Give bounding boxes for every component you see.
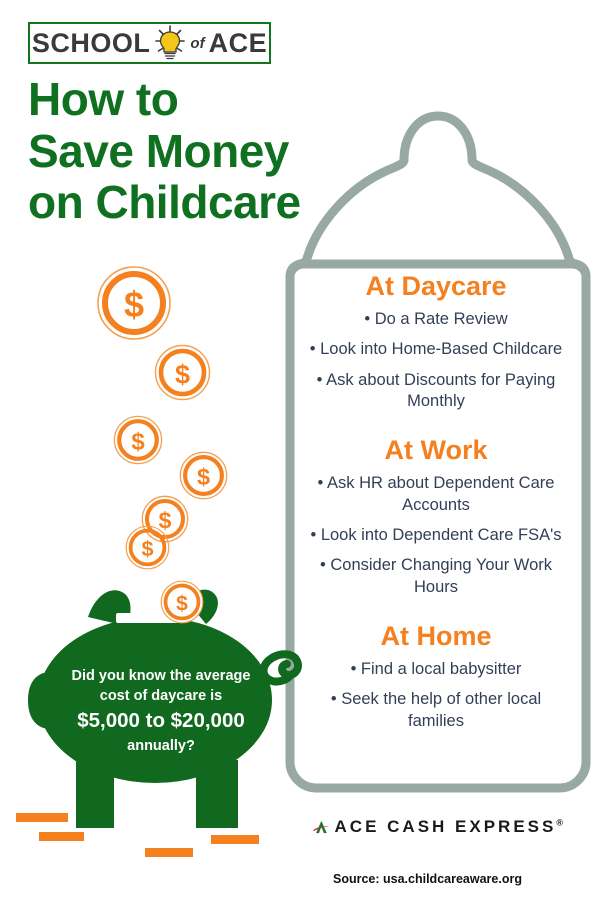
piggy-text-line-4: annually? [47, 736, 275, 756]
tips-heading-work: At Work [305, 436, 567, 466]
piggy-leg-front [76, 760, 114, 828]
tips-heading-daycare: At Daycare [305, 272, 567, 302]
svg-text:$: $ [131, 429, 145, 456]
svg-text:$: $ [142, 537, 154, 561]
piggy-leg-back [196, 760, 238, 828]
tip-item: • Seek the help of other local families [305, 689, 567, 732]
svg-text:$: $ [124, 284, 144, 325]
svg-text:$: $ [175, 360, 190, 390]
title-line-2: Save Money [28, 126, 408, 178]
piggy-text-line-2: cost of daycare is [47, 686, 275, 706]
tip-item: • Look into Dependent Care FSA's [305, 525, 567, 546]
tip-item: • Consider Changing Your Work Hours [305, 555, 567, 598]
tip-item: • Look into Home-Based Childcare [305, 339, 567, 360]
dollar-coin-icon: $ [179, 451, 228, 500]
ace-cash-express-logo: ACE CASH EXPRESS® [313, 810, 563, 844]
dollar-coin-icon: $ [160, 580, 204, 624]
ace-brand-text: ACE CASH EXPRESS® [335, 817, 563, 837]
title-line-3: on Childcare [28, 177, 408, 229]
dollar-coin-icon: $ [125, 525, 170, 570]
tip-item: • Find a local babysitter [305, 659, 567, 680]
piggy-bank-callout: Did you know the average cost of daycare… [47, 666, 275, 756]
piggy-text-amount: $5,000 to $20,000 [47, 708, 275, 735]
registered-mark: ® [556, 817, 563, 827]
tips-heading-home: At Home [305, 622, 567, 652]
dollar-coin-icon: $ [96, 265, 172, 341]
piggy-snout [28, 672, 48, 729]
svg-text:$: $ [176, 593, 188, 616]
infographic-page: { "logo": { "school_text": "SCHOOL", "of… [0, 0, 601, 900]
dollar-coin-icon: $ [113, 415, 163, 465]
dollar-coin-icon: $ [154, 344, 211, 401]
tips-panel: At Daycare • Do a Rate Review • Look int… [305, 272, 567, 741]
piggy-text-line-1: Did you know the average [47, 666, 275, 686]
title-line-1: How to [28, 74, 408, 126]
tip-item: • Do a Rate Review [305, 309, 567, 330]
source-attribution: Source: usa.childcareaware.org [333, 872, 522, 886]
tip-item: • Ask HR about Dependent Care Accounts [305, 473, 567, 516]
svg-text:$: $ [197, 464, 210, 490]
ace-a-mark-icon [313, 810, 331, 844]
tip-item: • Ask about Discounts for Paying Monthly [305, 370, 567, 413]
page-title: How to Save Money on Childcare [28, 74, 408, 229]
